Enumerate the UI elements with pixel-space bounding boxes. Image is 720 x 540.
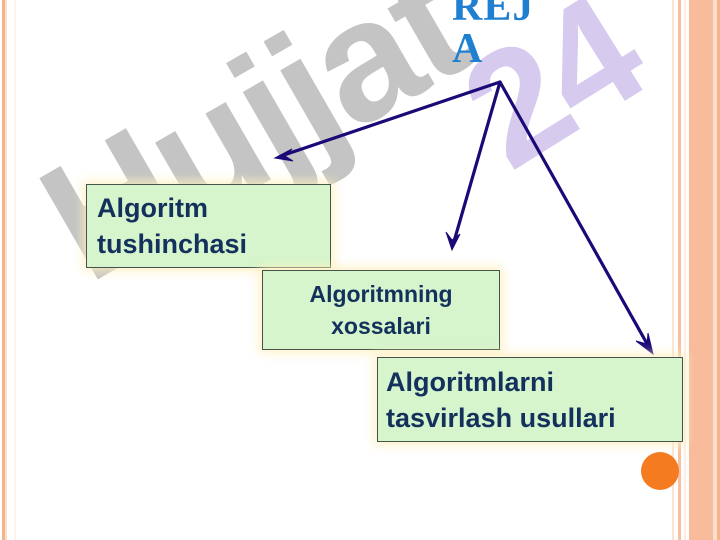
arrow-middle-line [453,82,500,245]
arrow-left-line [281,82,500,156]
topic-box-3-line-1: Algoritmlarni [386,364,682,400]
topic-box-2-line-2: xossalari [271,310,491,342]
arrow-middle-head [446,232,460,250]
slide-canvas: Hujjat 24 REJ A Algoritm tushinchasi Alg… [0,0,720,540]
arrow-left-head [275,149,293,161]
topic-box-algoritm-tushinchasi[interactable]: Algoritm tushinchasi [86,184,331,268]
arrow-right-line [500,82,650,349]
topic-box-2-line-1: Algoritmning [271,278,491,310]
topic-box-1-line-1: Algoritm [97,190,330,226]
topic-box-1-line-2: tushinchasi [97,226,330,262]
orange-circle-decoration [641,452,679,490]
topic-box-algoritmning-xossalari[interactable]: Algoritmning xossalari [262,270,500,350]
topic-box-algoritmlarni-tasvirlash-usullari[interactable]: Algoritmlarni tasvirlash usullari [377,357,683,442]
topic-box-3-line-2: tasvirlash usullari [386,400,682,436]
